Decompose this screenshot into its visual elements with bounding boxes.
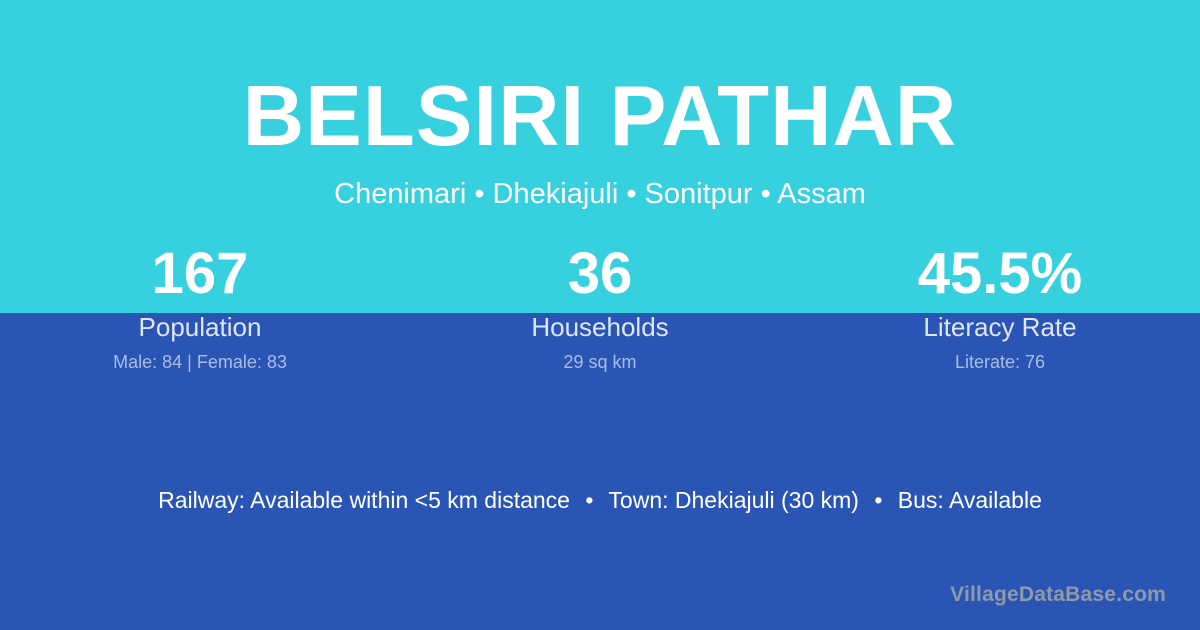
site-watermark: VillageDataBase.com (950, 582, 1166, 608)
stat-value: 36 (400, 240, 800, 308)
card-header: BELSIRI PATHAR Chenimari • Dhekiajuli • … (0, 0, 1200, 212)
amenity-separator-icon: • (576, 485, 602, 515)
page-title: BELSIRI PATHAR (0, 74, 1200, 159)
stat-value: 45.5% (800, 240, 1200, 308)
village-info-card: BELSIRI PATHAR Chenimari • Dhekiajuli • … (0, 0, 1200, 630)
stat-value: 167 (0, 240, 400, 308)
breadcrumb: Chenimari • Dhekiajuli • Sonitpur • Assa… (0, 177, 1200, 212)
stat-literacy-rate: 45.5% Literacy Rate Literate: 76 (800, 240, 1200, 373)
amenity-bus: Bus: Available (898, 487, 1042, 513)
stat-label: Literacy Rate (800, 312, 1200, 342)
stats-row: 167 Population Male: 84 | Female: 83 36 … (0, 240, 1200, 373)
stat-sublabel: 29 sq km (400, 351, 800, 373)
amenity-railway: Railway: Available within <5 km distance (158, 487, 570, 513)
stat-population: 167 Population Male: 84 | Female: 83 (0, 240, 400, 373)
stat-label: Households (400, 312, 800, 342)
amenities-line: Railway: Available within <5 km distance… (0, 485, 1200, 515)
stat-households: 36 Households 29 sq km (400, 240, 800, 373)
amenity-separator-icon: • (865, 485, 891, 515)
stat-sublabel: Literate: 76 (800, 351, 1200, 373)
stat-label: Population (0, 312, 400, 342)
stat-sublabel: Male: 84 | Female: 83 (0, 351, 400, 373)
amenity-town: Town: Dhekiajuli (30 km) (608, 487, 859, 513)
